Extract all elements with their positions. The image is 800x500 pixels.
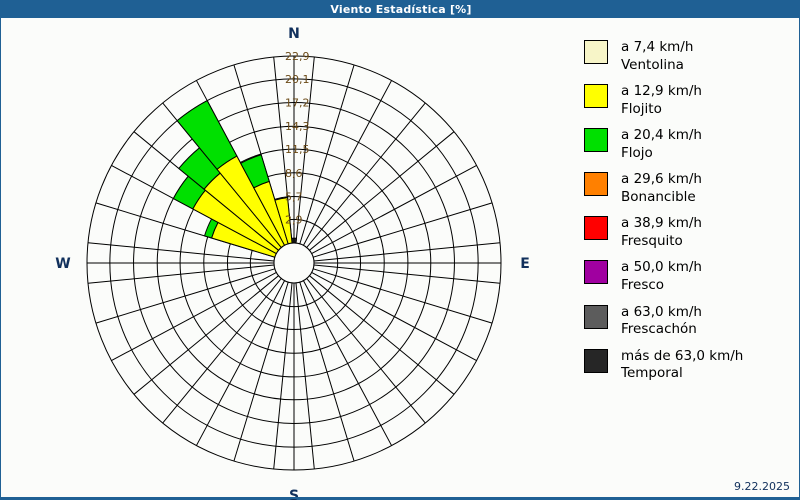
legend-color-swatch <box>584 128 608 152</box>
grid-spoke <box>313 203 492 257</box>
legend-item[interactable]: a 7,4 km/hVentolina <box>584 39 794 74</box>
grid-spoke <box>196 281 284 446</box>
legend-label: a 7,4 km/hVentolina <box>621 39 693 74</box>
radial-tick-label: 17,2 <box>285 97 310 110</box>
grid-spoke <box>307 278 426 423</box>
legend-label: a 50,0 km/hFresco <box>621 259 702 294</box>
legend-color-swatch <box>584 260 608 284</box>
radial-tick-label: 22,9 <box>285 50 310 63</box>
compass-label-west: W <box>55 256 70 272</box>
legend-speed-label: a 12,9 km/h <box>621 83 702 101</box>
legend-label: a 63,0 km/hFrescachón <box>621 304 702 339</box>
legend-color-swatch <box>584 40 608 64</box>
grid-spoke <box>111 272 276 360</box>
legend-item[interactable]: a 12,9 km/hFlojito <box>584 83 794 118</box>
wind-rose-svg: 2,95,78,611,514,317,220,122,9 NESW <box>1 18 571 500</box>
grid-spoke <box>312 165 477 253</box>
legend-label: a 38,9 km/hFresquito <box>621 215 702 250</box>
legend-category-label: Bonancible <box>621 189 702 207</box>
grid-spoke <box>307 103 426 248</box>
legend-category-label: Flojito <box>621 101 702 119</box>
plot-hub <box>274 243 314 283</box>
window-title-bar: Viento Estadística [%] <box>1 1 800 18</box>
legend-item[interactable]: a 29,6 km/hBonancible <box>584 171 794 206</box>
radial-tick-label: 14,3 <box>285 120 310 133</box>
legend-color-swatch <box>584 349 608 373</box>
grid-spoke <box>96 269 275 323</box>
legend-label: a 20,4 km/hFlojo <box>621 127 702 162</box>
grid-spoke <box>312 272 477 360</box>
wind-rose-window: Viento Estadística [%] 2,95,78,611,514,3… <box>0 0 800 500</box>
radial-tick-label: 5,7 <box>285 190 303 203</box>
grid-spoke <box>303 281 391 446</box>
grid-spoke <box>313 269 492 323</box>
grid-spoke <box>300 282 354 461</box>
grid-spoke <box>309 276 454 395</box>
legend-color-swatch <box>584 172 608 196</box>
date-stamp: 9.22.2025 <box>734 480 790 493</box>
compass-label-east: E <box>520 256 530 272</box>
radial-tick-label: 11,5 <box>285 143 310 156</box>
legend-speed-label: a 29,6 km/h <box>621 171 702 189</box>
legend-item[interactable]: más de 63,0 km/hTemporal <box>584 348 794 383</box>
grid-spoke <box>309 132 454 251</box>
legend-category-label: Frescachón <box>621 321 702 339</box>
legend-item[interactable]: a 38,9 km/hFresquito <box>584 215 794 250</box>
legend-label: a 12,9 km/hFlojito <box>621 83 702 118</box>
compass-label-north: N <box>288 26 300 42</box>
legend-speed-label: a 7,4 km/h <box>621 39 693 57</box>
legend-category-label: Fresco <box>621 277 702 295</box>
wind-rose-plot: 2,95,78,611,514,317,220,122,9 NESW <box>1 18 571 500</box>
grid-spoke <box>303 80 391 245</box>
legend-color-swatch <box>584 84 608 108</box>
radial-tick-label: 20,1 <box>285 73 310 86</box>
legend-item[interactable]: a 63,0 km/hFrescachón <box>584 304 794 339</box>
legend-speed-label: a 20,4 km/h <box>621 127 702 145</box>
legend-speed-label: más de 63,0 km/h <box>621 348 743 366</box>
legend-color-swatch <box>584 216 608 240</box>
window-title: Viento Estadística [%] <box>330 3 471 16</box>
legend-color-swatch <box>584 305 608 329</box>
grid-spoke <box>163 278 282 423</box>
radial-tick-label: 2,9 <box>285 213 303 226</box>
legend-item[interactable]: a 20,4 km/hFlojo <box>584 127 794 162</box>
legend: a 7,4 km/hVentolinaa 12,9 km/hFlojitoa 2… <box>584 39 794 392</box>
grid-spoke <box>134 276 279 395</box>
legend-speed-label: a 50,0 km/h <box>621 259 702 277</box>
petal-layer <box>173 101 296 258</box>
legend-item[interactable]: a 50,0 km/hFresco <box>584 259 794 294</box>
legend-label: más de 63,0 km/hTemporal <box>621 348 743 383</box>
legend-category-label: Flojo <box>621 145 702 163</box>
legend-speed-label: a 63,0 km/h <box>621 304 702 322</box>
footer-rule <box>1 497 800 499</box>
radial-tick-label: 8,6 <box>285 167 303 180</box>
legend-label: a 29,6 km/hBonancible <box>621 171 702 206</box>
grid-spoke <box>234 282 288 461</box>
legend-category-label: Temporal <box>621 365 743 383</box>
legend-speed-label: a 38,9 km/h <box>621 215 702 233</box>
legend-category-label: Fresquito <box>621 233 702 251</box>
legend-category-label: Ventolina <box>621 57 693 75</box>
